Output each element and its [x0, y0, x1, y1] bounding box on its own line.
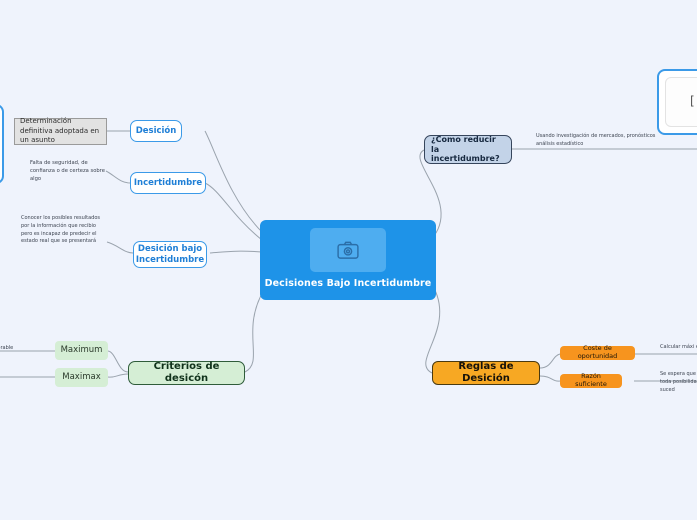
note-incertidumbre: Falta de seguridad, de confianza o de ce…	[30, 160, 108, 186]
node-reglas-label: Reglas de Desición	[441, 361, 531, 385]
chip-maximum-label: Maximum	[61, 345, 103, 355]
note-desicion-bajo-incertidumbre: Conocer los posibles resultados por la i…	[21, 215, 107, 255]
central-node[interactable]: Decisiones Bajo Incertidumbre	[260, 220, 436, 300]
note-coste-text: Calcular máxi ellos	[660, 344, 697, 352]
mindmap-canvas[interactable]: [ Decisiones Bajo Incertidumbre Desición…	[0, 0, 697, 520]
chip-coste-label: Coste de oportunidad	[565, 345, 630, 361]
chip-razon-suficiente[interactable]: Razón suficiente	[560, 374, 622, 388]
node-reglas-de-desicion[interactable]: Reglas de Desición	[432, 361, 540, 385]
note-razon-suficiente: Se espera que toda posibilidad a suced	[660, 371, 697, 389]
node-desicion[interactable]: Desición	[130, 120, 182, 142]
note-como-reducir: Usando investigación de mercados, pronós…	[536, 133, 664, 151]
side-card-left[interactable]	[0, 104, 4, 184]
chip-maximum[interactable]: Maximum	[55, 341, 108, 360]
node-incertidumbre[interactable]: Incertidumbre	[130, 172, 206, 194]
node-criterios-de-desicon[interactable]: Criterios de desicón	[128, 361, 245, 385]
central-node-title: Decisiones Bajo Incertidumbre	[265, 278, 432, 289]
node-incertidumbre-label: Incertidumbre	[134, 178, 202, 188]
note-maximum-text: sfavorable	[0, 345, 13, 353]
note-razon-text: Se espera que toda posibilidad a suced	[660, 371, 697, 394]
chip-razon-label: Razón suficiente	[565, 373, 617, 389]
node-criterios-label: Criterios de desicón	[137, 361, 236, 385]
note-desicion-bajo-incertidumbre-text: Conocer los posibles resultados por la i…	[21, 215, 107, 246]
note-incertidumbre-text: Falta de seguridad, de confianza o de ce…	[30, 160, 108, 183]
node-desicion-bajo-incertidumbre-label: Desición bajo Incertidumbre	[136, 244, 204, 264]
note-como-reducir-text: Usando investigación de mercados, pronós…	[536, 133, 664, 149]
chip-maximax[interactable]: Maximax	[55, 368, 108, 387]
camera-icon	[337, 241, 359, 259]
note-maximum: sfavorable	[0, 345, 31, 357]
note-coste-de-oportunidad: Calcular máxi ellos	[660, 344, 697, 362]
chip-maximax-label: Maximax	[62, 372, 100, 382]
note-desicion: Determinación definitiva adoptada en un …	[14, 118, 107, 145]
chip-coste-de-oportunidad[interactable]: Coste de oportunidad	[560, 346, 635, 360]
central-image-placeholder[interactable]	[310, 228, 386, 272]
note-desicion-text: Determinación definitiva adoptada en un …	[20, 117, 101, 145]
note-maximax: a	[0, 371, 32, 383]
node-desicion-label: Desición	[136, 126, 177, 136]
node-como-reducir-label: ¿Como reducir la incertidumbre?	[431, 135, 505, 164]
node-como-reducir-incertidumbre[interactable]: ¿Como reducir la incertidumbre?	[424, 135, 512, 164]
node-desicion-bajo-incertidumbre[interactable]: Desición bajo Incertidumbre	[133, 241, 207, 268]
bracket-icon: [	[690, 94, 695, 108]
